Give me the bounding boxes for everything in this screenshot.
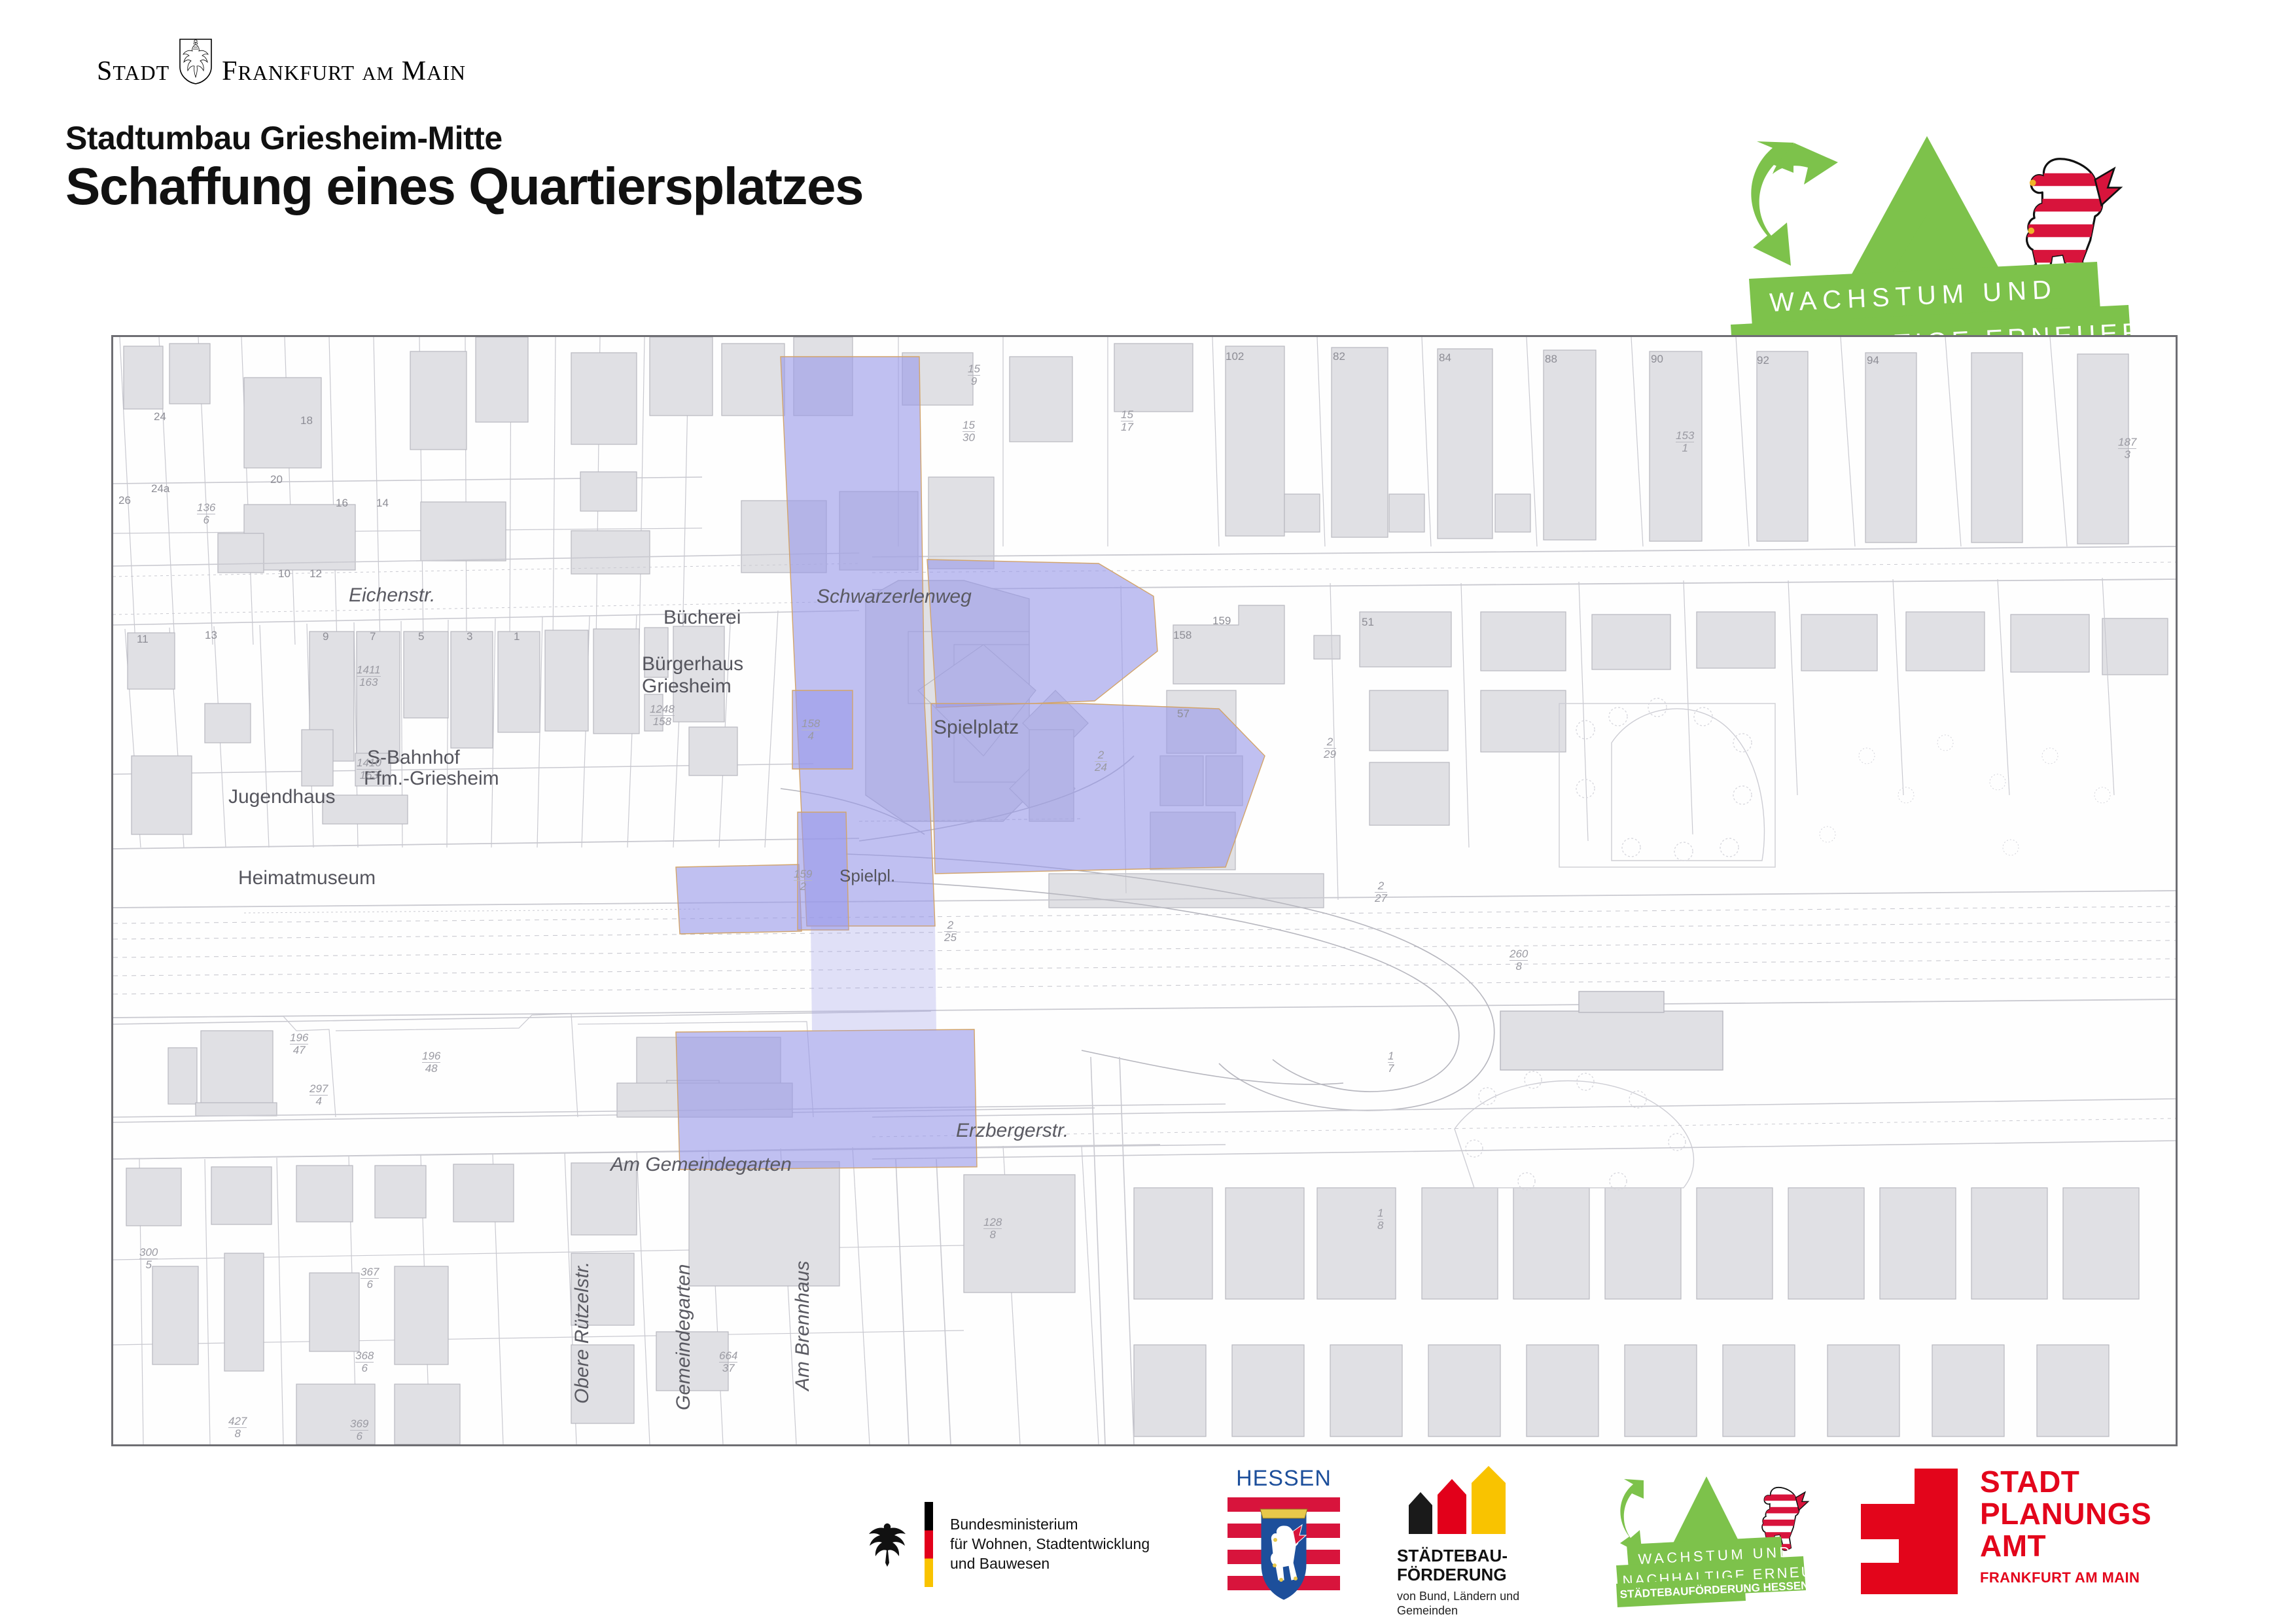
stadtplanungsamt-mark-icon xyxy=(1858,1466,1958,1597)
page-header: STADT FRANKFURT AM MAIN Stadtumbau Gries… xyxy=(0,0,2296,308)
german-flag-bar-icon xyxy=(925,1502,933,1587)
funding-logos-footer: Bundesministerium für Wohnen, Stadtentwi… xyxy=(0,1466,2296,1623)
bmw-line3: und Bauwesen xyxy=(950,1554,1150,1574)
frankfurt-eagle-crest-icon xyxy=(179,38,213,85)
staedtebaufoerderung-wordmark: STÄDTEBAU- FÖRDERUNG xyxy=(1397,1546,1561,1584)
staedtebaufoerderung-logo: STÄDTEBAU- FÖRDERUNG von Bund, Ländern u… xyxy=(1397,1466,1561,1623)
wachstum-und-nachhaltige-erneuerung-logo-footer: WACHSTUM UND NACHHALTIGE ERNEUERUNG STÄD… xyxy=(1616,1466,1832,1623)
stadtplanungsamt-logo: STADT PLANUNGS AMT FRANKFURT AM MAIN xyxy=(1858,1466,2185,1623)
quartiersplatz-highlight-faint xyxy=(811,926,936,1031)
city-logo-word-frankfurt: FRANKFURT AM MAIN xyxy=(222,58,466,85)
hessen-flag-icon xyxy=(1225,1491,1343,1607)
sbf-line1: STÄDTEBAU- xyxy=(1397,1546,1561,1565)
cadastral-map[interactable]: Eichenstr. Schwarzerlenweg Erzbergerstr.… xyxy=(111,335,2178,1446)
bundesadler-icon xyxy=(867,1521,908,1568)
spa-line4: FRANKFURT AM MAIN xyxy=(1980,1569,2151,1586)
three-houses-icon xyxy=(1397,1466,1528,1538)
recycle-arrow-icon xyxy=(1620,1479,1644,1555)
sbf-line3: von Bund, Ländern und xyxy=(1397,1590,1561,1604)
spa-line3: AMT xyxy=(1980,1530,2151,1562)
bmw-line2: für Wohnen, Stadtentwicklung xyxy=(950,1535,1150,1554)
map-graphics xyxy=(113,337,2176,1444)
sbf-line2: FÖRDERUNG xyxy=(1397,1565,1561,1584)
sbf-line4: Gemeinden xyxy=(1397,1604,1561,1618)
hessen-logo: HESSEN xyxy=(1225,1466,1343,1623)
page-subtitle: Stadtumbau Griesheim-Mitte xyxy=(65,119,503,157)
city-logo-word-stadt: STADT xyxy=(97,58,169,85)
spa-line2: PLANUNGS xyxy=(1980,1498,2151,1530)
staedtebaufoerderung-subtitle: von Bund, Ländern und Gemeinden xyxy=(1397,1590,1561,1618)
bmw-line1: Bundesministerium xyxy=(950,1515,1150,1535)
city-of-frankfurt-logo: STADT FRANKFURT AM MAIN xyxy=(97,38,466,85)
stadtplanungsamt-wordmark: STADT PLANUNGS AMT FRANKFURT AM MAIN xyxy=(1980,1466,2151,1586)
page-title: Schaffung eines Quartiersplatzes xyxy=(65,159,863,214)
hessen-wordmark: HESSEN xyxy=(1225,1466,1343,1491)
recycle-arrow-icon xyxy=(1751,141,1838,266)
spa-line1: STADT xyxy=(1980,1466,2151,1498)
bundesministerium-logo: Bundesministerium für Wohnen, Stadtentwi… xyxy=(867,1466,1214,1623)
bundesministerium-text: Bundesministerium für Wohnen, Stadtentwi… xyxy=(950,1515,1150,1574)
